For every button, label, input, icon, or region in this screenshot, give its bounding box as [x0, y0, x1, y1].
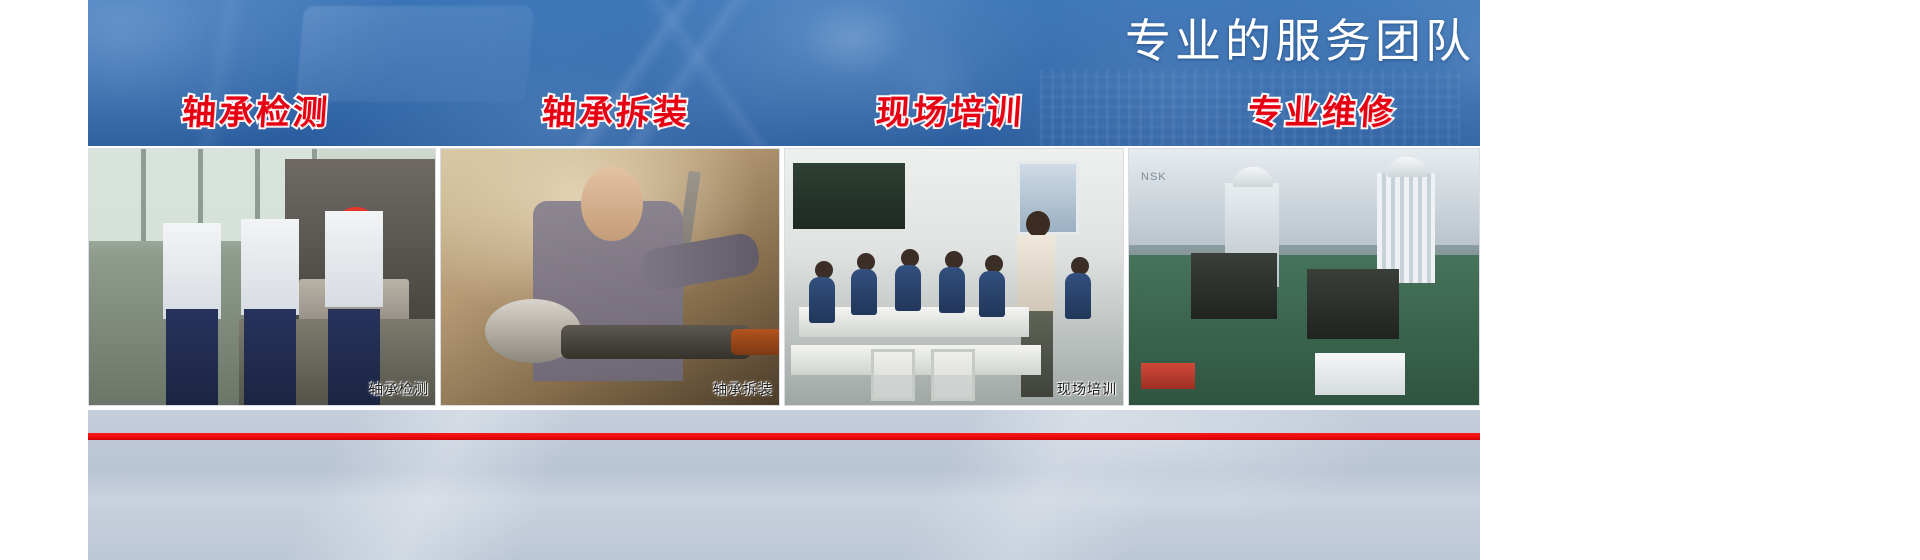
photo-image-1	[89, 149, 435, 405]
photo-professional-repair[interactable]: NSK	[1128, 148, 1480, 406]
page-title: 专业的服务团队	[1125, 18, 1475, 64]
photo-strip: 轴承检测 轴承拆装	[88, 146, 1480, 408]
category-label-onsite-training: 现场培训	[875, 96, 1025, 130]
brand-mark-nsk: NSK	[1141, 171, 1167, 183]
photo-bearing-disassembly[interactable]: 轴承拆装	[440, 148, 780, 406]
red-divider-rule	[88, 433, 1480, 440]
photo-caption-3: 现场培训	[1057, 379, 1117, 399]
category-label-professional-repair: 专业维修	[1247, 96, 1397, 130]
left-margin	[0, 0, 88, 560]
right-margin	[1480, 0, 1920, 560]
category-label-bearing-inspection: 轴承检测	[181, 96, 331, 130]
photo-caption-2: 轴承拆装	[713, 379, 773, 399]
photo-image-3	[785, 149, 1123, 405]
photo-image-2	[441, 149, 779, 405]
category-label-bearing-disassembly: 轴承拆装	[541, 96, 691, 130]
hero-ghost-screen	[296, 6, 534, 102]
photo-onsite-training[interactable]: 现场培训	[784, 148, 1124, 406]
photo-caption-1: 轴承检测	[369, 379, 429, 399]
photo-image-4: NSK	[1129, 149, 1479, 405]
photo-bearing-inspection[interactable]: 轴承检测	[88, 148, 436, 406]
service-team-banner: 专业的服务团队 轴承检测 轴承拆装 现场培训 专业维修	[0, 0, 1920, 560]
